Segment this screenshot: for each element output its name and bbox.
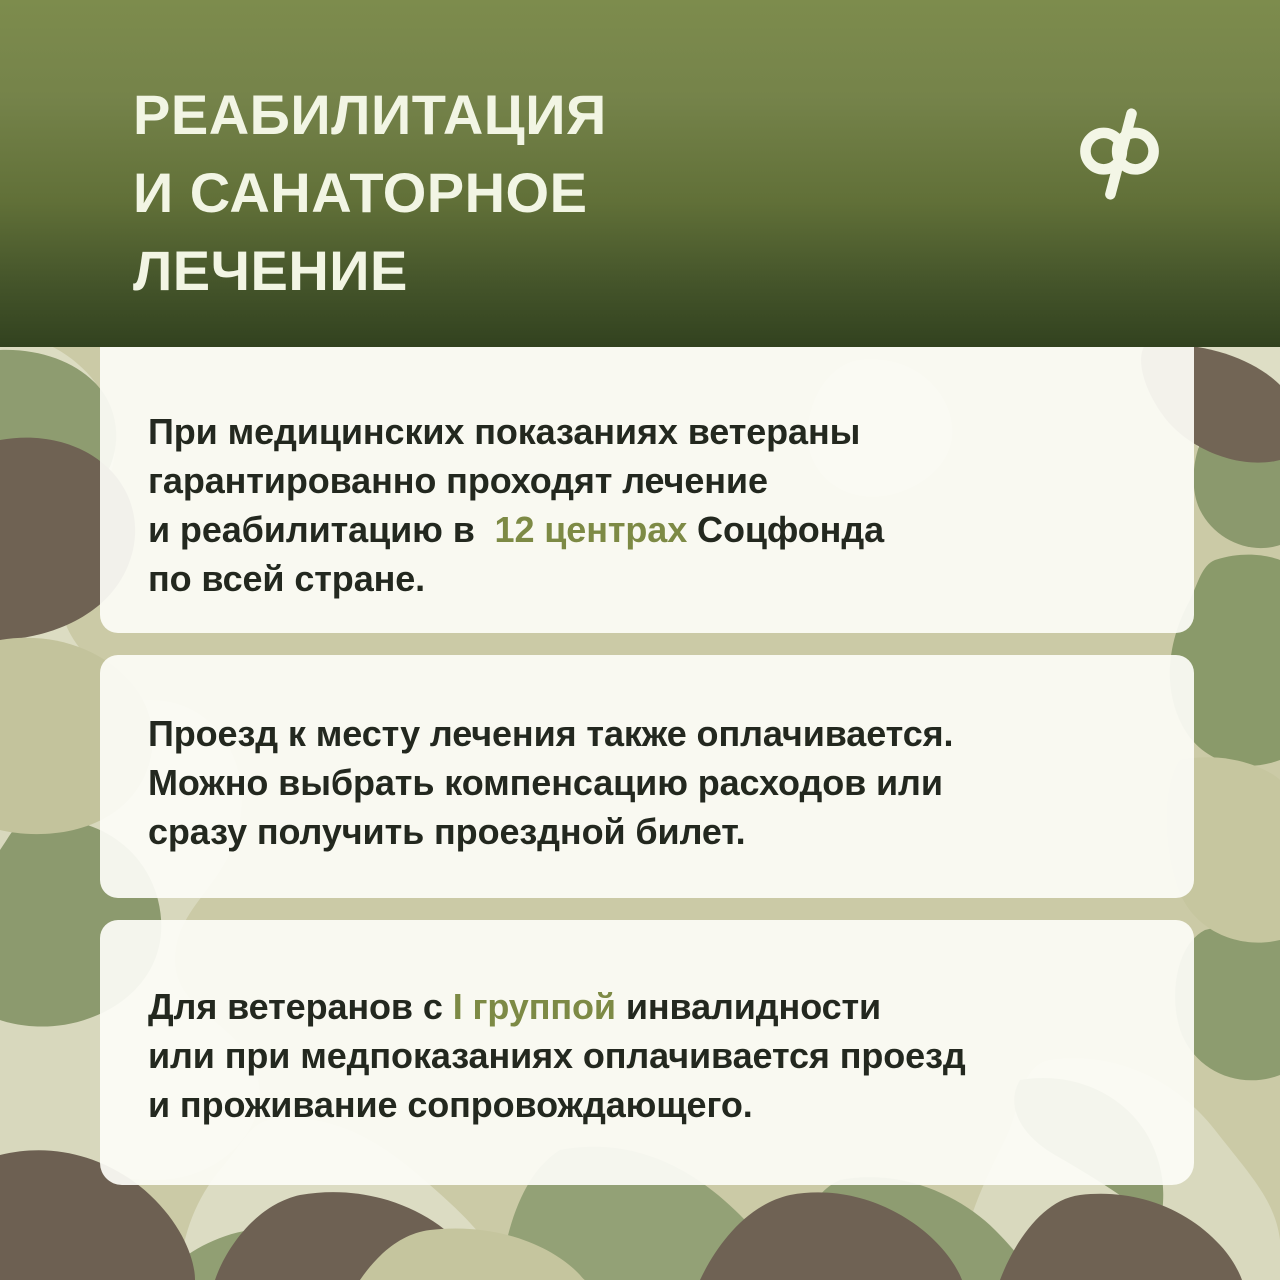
card-2-line-2: Можно выбрать компенсацию расходов или <box>148 762 943 803</box>
card-1-line-3-prefix: и реабилитацию в <box>148 509 495 550</box>
content-cards: При медицинских показаниях ветераны гара… <box>100 347 1194 1185</box>
card-companion-text: Для ветеранов с I группой инвалидности и… <box>148 920 1194 1129</box>
card-travel-payment: Проезд к месту лечения также оплачиваетс… <box>100 655 1194 898</box>
card-divider-2 <box>100 898 1194 920</box>
card-3-line-2: или при медпоказаниях оплачивается проез… <box>148 1035 966 1076</box>
card-2-line-3: сразу получить проездной билет. <box>148 811 746 852</box>
card-treatment-centers: При медицинских показаниях ветераны гара… <box>100 347 1194 633</box>
sfr-logo-icon <box>1072 106 1168 202</box>
header-banner: РЕАБИЛИТАЦИЯ И САНАТОРНОЕ ЛЕЧЕНИЕ <box>0 0 1280 347</box>
page-title: РЕАБИЛИТАЦИЯ И САНАТОРНОЕ ЛЕЧЕНИЕ <box>133 76 607 310</box>
card-3-line-1-prefix: Для ветеранов с <box>148 986 453 1027</box>
card-1-line-1: При медицинских показаниях ветераны <box>148 411 860 452</box>
card-divider-1 <box>100 633 1194 655</box>
card-1-line-4: по всей стране. <box>148 558 425 599</box>
card-companion: Для ветеранов с I группой инвалидности и… <box>100 920 1194 1185</box>
card-treatment-centers-text: При медицинских показаниях ветераны гара… <box>148 347 1194 603</box>
card-2-line-1: Проезд к месту лечения также оплачиваетс… <box>148 713 953 754</box>
card-1-line-2: гарантированно проходят лечение <box>148 460 768 501</box>
highlight-12-centers: 12 центрах <box>495 509 688 550</box>
card-3-line-3: и проживание сопровождающего. <box>148 1084 753 1125</box>
highlight-group-one: I группой <box>453 986 616 1027</box>
card-travel-payment-text: Проезд к месту лечения также оплачиваетс… <box>148 655 1194 856</box>
card-3-line-1-suffix: инвалидности <box>616 986 881 1027</box>
poster-root: РЕАБИЛИТАЦИЯ И САНАТОРНОЕ ЛЕЧЕНИЕ При ме… <box>0 0 1280 1280</box>
card-1-line-3-suffix: Соцфонда <box>687 509 884 550</box>
